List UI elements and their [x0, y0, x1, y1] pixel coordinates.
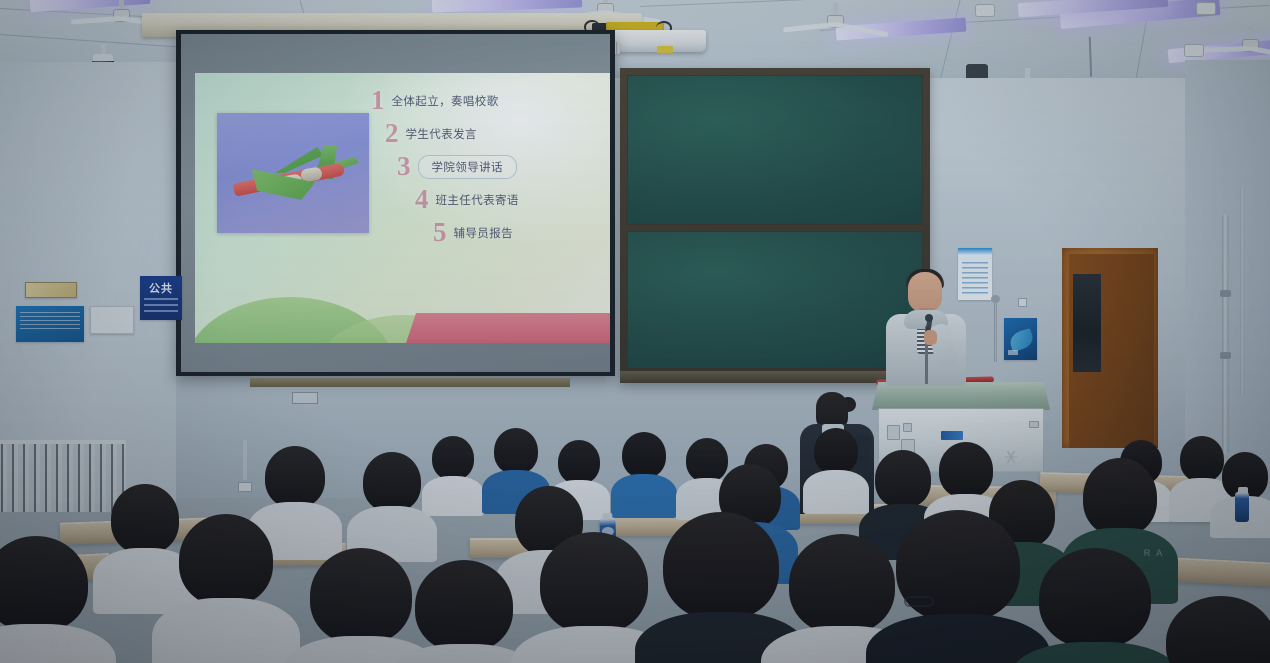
speaker-hand: [924, 330, 937, 345]
shoulders: [152, 598, 300, 663]
poster-graphic-bar: [1008, 350, 1018, 355]
audience-member: [536, 532, 652, 663]
agenda-label: 班主任代表寄语: [436, 192, 519, 208]
audience-member: [430, 436, 476, 514]
wall-plate: [292, 392, 318, 404]
pipe-bracket: [1220, 290, 1231, 297]
airplane-illustration: [229, 137, 357, 211]
wall-switch: [1018, 298, 1027, 307]
wall-pipe: [1222, 214, 1229, 454]
head: [1180, 436, 1224, 482]
public-sign-subtext: [144, 298, 178, 314]
poster-graphic-shape: [1008, 328, 1035, 352]
head: [939, 442, 993, 498]
lectern-label: [1029, 421, 1039, 428]
agenda-label: 辅导员报告: [454, 225, 514, 241]
shoulders: [866, 614, 1050, 663]
shoulders: [422, 476, 484, 516]
agenda-item-5: 5 辅导员报告: [433, 219, 599, 246]
agenda-item-2: 2 学生代表发言: [385, 120, 599, 147]
fan-blade: [1196, 46, 1250, 53]
head: [111, 484, 179, 554]
agenda-number: 3: [397, 153, 411, 180]
head: [540, 532, 648, 634]
agenda-label-highlighted: 学院领导讲话: [418, 155, 517, 179]
head: [814, 428, 858, 474]
head: [1039, 548, 1151, 648]
lectern-button[interactable]: [903, 423, 912, 432]
head: [179, 514, 273, 606]
door-window: [1073, 274, 1101, 372]
small-framed-notice: [25, 282, 77, 298]
public-sign: 公共: [140, 276, 182, 320]
screen-surface: 1 全体起立，奏唱校歌 2 学生代表发言 3 学院领导讲话 4 班主任代表寄语: [181, 34, 610, 372]
slide-red-banner: [406, 313, 610, 343]
audience-member: [0, 536, 92, 663]
desk-row: [1169, 557, 1270, 587]
microphone-head: [925, 314, 933, 322]
agenda-number: 4: [415, 186, 429, 213]
head: [875, 450, 931, 508]
audience-member: [892, 510, 1024, 663]
agenda-item-4: 4 班主任代表寄语: [415, 186, 599, 213]
head: [0, 536, 88, 632]
presentation-slide: 1 全体起立，奏唱校歌 2 学生代表发言 3 学院领导讲话 4 班主任代表寄语: [195, 73, 610, 343]
agenda-item-3: 3 学院领导讲话: [397, 153, 599, 180]
eyeglasses-icon: [904, 596, 934, 607]
notice-text-lines: [20, 312, 80, 332]
head: [663, 512, 779, 620]
audience-member: [176, 514, 276, 663]
shoulders: [803, 470, 869, 514]
head: [432, 436, 474, 480]
white-notice-sheet: [90, 306, 134, 334]
head: [622, 432, 666, 478]
audience-member: [412, 560, 516, 663]
fan-blade: [1250, 46, 1270, 61]
speaker-head: [908, 272, 942, 312]
blackboard: [620, 68, 930, 383]
blue-info-notice: [16, 306, 84, 342]
door-leaf[interactable]: [1069, 254, 1154, 448]
audience-member: [1162, 596, 1270, 663]
speaker-at-lectern: [886, 272, 966, 392]
blackboard-panel-upper: [627, 75, 923, 225]
water-bottle: [1235, 492, 1249, 522]
classroom-door[interactable]: [1062, 248, 1158, 448]
lectern-vent-icon: [1005, 451, 1017, 463]
ceiling-speaker: [975, 4, 995, 17]
head: [1166, 596, 1270, 663]
head: [415, 560, 513, 652]
audience-member: [620, 432, 668, 514]
projector-label: [657, 46, 673, 53]
blackboard-panel-lower: [627, 231, 923, 369]
slide-agenda-list: 1 全体起立，奏唱校歌 2 学生代表发言 3 学院领导讲话 4 班主任代表寄语: [371, 87, 599, 252]
pipe-bracket: [1220, 352, 1231, 359]
ceiling-fan: [1215, 26, 1270, 60]
lectern-panel-slot: [887, 425, 900, 440]
wall-pipe-secondary: [1240, 186, 1245, 396]
agenda-number: 5: [433, 219, 447, 246]
projection-screen: 1 全体起立，奏唱校歌 2 学生代表发言 3 学院领导讲话 4 班主任代表寄语: [176, 30, 615, 376]
head: [558, 440, 600, 484]
head: [363, 452, 421, 512]
wall-hook-knob: [991, 295, 1000, 303]
wall-hook: [994, 300, 997, 362]
ceiling-fan: [800, 2, 870, 36]
audience-member: [1036, 548, 1154, 663]
head: [789, 534, 895, 634]
shoulders: [1010, 642, 1180, 663]
lectern-logo: [941, 431, 963, 440]
wall-outlet: [238, 482, 252, 492]
public-sign-label: 公共: [149, 280, 173, 296]
audience-member: [812, 428, 860, 510]
shirt-print-text: N F: [50, 640, 74, 652]
ceiling-speaker: [1196, 2, 1216, 15]
agenda-item-1: 1 全体起立，奏唱校歌: [371, 87, 599, 114]
head: [1083, 458, 1157, 536]
wall-conduit: [243, 440, 247, 480]
bottle-cap: [602, 513, 612, 519]
agenda-label: 全体起立，奏唱校歌: [392, 93, 499, 109]
audience-member: [360, 452, 424, 556]
classroom-photo: 1 全体起立，奏唱校歌 2 学生代表发言 3 学院领导讲话 4 班主任代表寄语: [0, 0, 1270, 663]
head: [310, 548, 412, 644]
ceiling-speaker: [1184, 44, 1204, 57]
head: [494, 428, 538, 474]
audience-member: [660, 512, 782, 663]
slide-airplane-photo: [217, 113, 369, 233]
audience-member: [108, 484, 182, 608]
head: [265, 446, 325, 508]
agenda-label: 学生代表发言: [406, 126, 477, 142]
graphic-poster: [1004, 318, 1037, 360]
agenda-number: 2: [385, 120, 399, 147]
agenda-number: 1: [371, 87, 385, 114]
screen-bottom-rail: [250, 378, 570, 387]
audience-member: [306, 548, 416, 663]
bottle-cap: [1238, 487, 1248, 493]
